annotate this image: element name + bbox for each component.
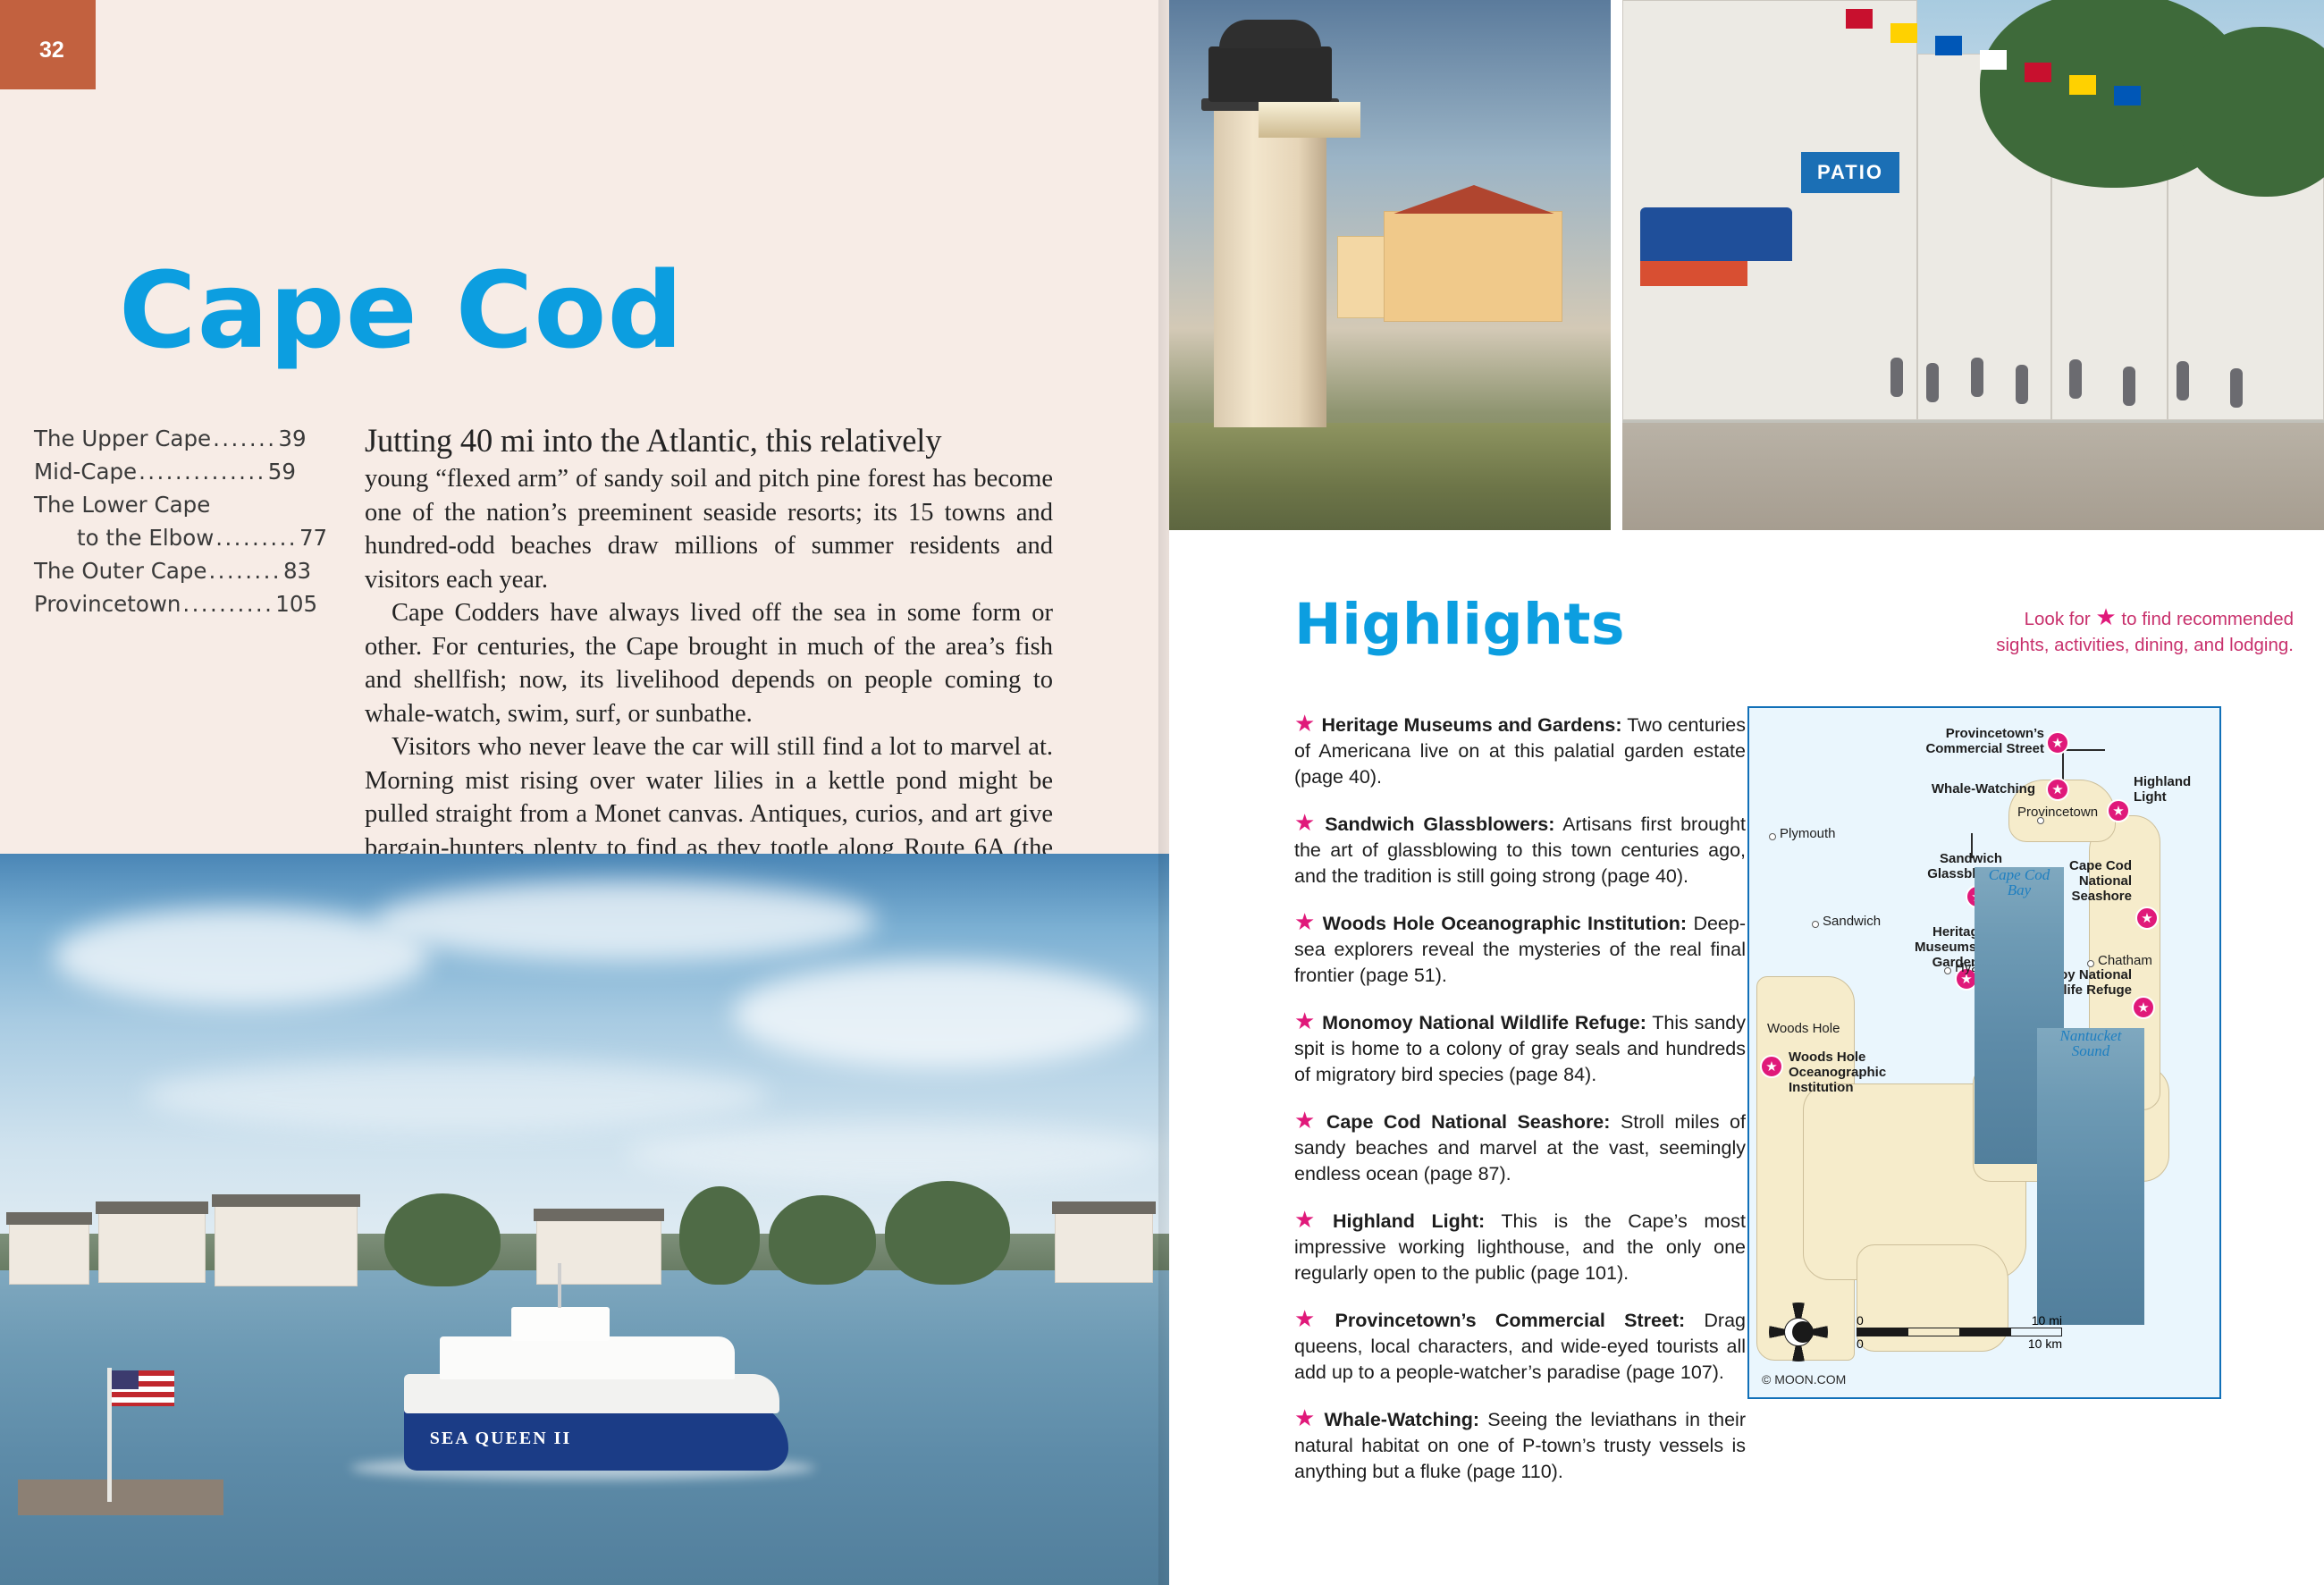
waterfront-building <box>9 1222 89 1285</box>
cloud <box>54 907 429 1006</box>
boat-mast <box>558 1263 561 1308</box>
label-line-2: Bay <box>2008 881 2031 898</box>
tree <box>384 1193 501 1286</box>
highlight-item: ★Sandwich Glassblowers: Artisans first b… <box>1294 810 1746 889</box>
boat-name-text: SEA QUEEN II <box>411 1429 590 1449</box>
label-line-1: Cape Cod <box>2069 858 2132 873</box>
town-dot <box>2087 960 2094 967</box>
highlight-title: Sandwich Glassblowers: <box>1325 814 1554 835</box>
toc-label: The Upper Cape <box>34 422 211 455</box>
town-dot <box>1812 921 1819 928</box>
intro-lead-line: Jutting 40 mi into the Atlantic, this re… <box>365 420 1053 460</box>
page-title: Cape Cod <box>119 249 684 372</box>
highlight-title: Provincetown’s Commercial Street: <box>1335 1310 1686 1331</box>
toc-label: The Outer Cape <box>34 554 206 587</box>
pedestrian <box>2230 368 2243 408</box>
scale-ticks-bottom: 0 10 km <box>1857 1336 2062 1351</box>
star-icon: ★ <box>1294 1007 1316 1034</box>
star-icon: ★ <box>1294 908 1317 935</box>
toc-dots: ......... <box>214 521 299 554</box>
keepers-house <box>1384 211 1562 322</box>
toc-label: The Lower Cape <box>34 488 210 521</box>
highlight-item: ★Highland Light: This is the Cape’s most… <box>1294 1207 1746 1286</box>
scale-zero-bottom: 0 <box>1857 1336 1864 1351</box>
toc-page: 39 <box>278 422 306 455</box>
waterfront-building <box>98 1211 206 1283</box>
map-credit: © MOON.COM <box>1762 1372 1846 1387</box>
map-label-highland-light: Highland Light <box>2134 774 2214 805</box>
pennant-flag <box>2069 75 2096 95</box>
label-line-2: Light <box>2134 789 2167 805</box>
page-number: 32 <box>39 38 64 63</box>
tree <box>769 1195 876 1285</box>
toc-label: Mid-Cape <box>34 455 137 488</box>
grass-field <box>1169 423 1611 530</box>
highlight-item: ★Monomoy National Wildlife Refuge: This … <box>1294 1008 1746 1088</box>
map-pin-highland-light[interactable]: ★ <box>2107 799 2130 822</box>
map-town-sandwich: Sandwich <box>1823 914 1881 929</box>
pennant-flag <box>1935 36 1962 55</box>
patio-sign: PATIO <box>1801 152 1899 193</box>
label-line-1: Highland <box>2134 774 2191 789</box>
list-item[interactable]: Provincetown .......... 105 <box>34 587 329 620</box>
toc-page: 59 <box>268 455 296 488</box>
star-icon: ★ <box>1294 1305 1329 1332</box>
star-icon: ★ <box>2095 603 2116 630</box>
map-town-provincetown: Provincetown <box>2017 805 2098 820</box>
look-for-suffix: to find recommended <box>2121 609 2294 629</box>
label-line-3: Seashore <box>2071 889 2132 904</box>
market-tent <box>1640 207 1792 261</box>
toc-page: 77 <box>299 521 327 554</box>
label-line-1: Whale-Watching <box>1932 781 2035 797</box>
map-town-chatham: Chatham <box>2098 953 2152 968</box>
map-pin-monomoy-national-wildlife-refuge[interactable]: ★ <box>2132 996 2155 1019</box>
label-line-2: National <box>2079 873 2132 889</box>
patio-sign-text: PATIO <box>1817 161 1883 184</box>
highlight-title: Highland Light: <box>1333 1210 1485 1232</box>
pedestrian <box>1971 358 1983 397</box>
highlight-item: ★Whale-Watching: Seeing the leviathans i… <box>1294 1405 1746 1485</box>
toc-page: 105 <box>275 587 317 620</box>
toc-dots: .............. <box>137 455 268 488</box>
boat-superstructure <box>404 1374 779 1413</box>
intro-text-block: Jutting 40 mi into the Atlantic, this re… <box>365 420 1053 898</box>
star-icon: ★ <box>1294 1107 1320 1134</box>
street-pavement <box>1622 423 2324 530</box>
map-pin-woods-hole-oceanographic-institution[interactable]: ★ <box>1760 1055 1783 1078</box>
highlight-title: Whale-Watching: <box>1324 1409 1479 1430</box>
waterfront-building <box>1055 1211 1153 1283</box>
page-number-badge: 32 <box>0 0 96 89</box>
waterfront-building <box>536 1218 661 1285</box>
label-line-2: Sound <box>2072 1042 2110 1059</box>
star-icon: ★ <box>1294 1206 1326 1233</box>
scale-km-label: 10 km <box>2028 1336 2062 1351</box>
highlights-list: ★Heritage Museums and Gardens: Two centu… <box>1294 711 1746 1505</box>
map-label-whale-watching: Whale-Watching <box>1857 781 2035 797</box>
highlight-title: Cape Cod National Seashore: <box>1326 1111 1611 1133</box>
scale-bar-graphic <box>1857 1328 2062 1336</box>
star-icon: ★ <box>1294 710 1315 737</box>
list-item[interactable]: to the Elbow ......... 77 <box>34 521 329 554</box>
pennant-flag <box>1980 50 2007 70</box>
lantern-glass <box>1259 102 1360 138</box>
cloud <box>733 961 1144 1068</box>
list-item[interactable]: Mid-Cape .............. 59 <box>34 455 329 488</box>
toc-label: to the Elbow <box>77 521 214 554</box>
cloud <box>143 1059 769 1131</box>
boat-upper-deck <box>440 1336 735 1379</box>
highlight-item: ★Provincetown’s Commercial Street: Drag … <box>1294 1306 1746 1386</box>
star-icon: ★ <box>1294 1404 1318 1431</box>
us-flag <box>112 1370 174 1406</box>
label-line-1: Provincetown’s <box>1946 726 2044 741</box>
tree <box>885 1181 1010 1285</box>
cloud <box>626 1122 1162 1185</box>
left-page: 32 Cape Cod The Upper Cape ....... 39 Mi… <box>0 0 1169 1585</box>
pedestrian <box>1890 358 1903 397</box>
scale-miles-label: 10 mi <box>2032 1313 2062 1328</box>
pennant-flag <box>2025 63 2051 82</box>
compass-rose <box>1769 1303 1828 1362</box>
scale-ticks-top: 0 10 mi <box>1857 1313 2062 1328</box>
waterfront-building <box>215 1204 358 1286</box>
look-for-prefix: Look for <box>2025 609 2091 629</box>
town-dot <box>1769 833 1776 840</box>
toc-page: 83 <box>283 554 311 587</box>
highlights-heading: Highlights <box>1294 592 1625 657</box>
lighthouse-lantern-room <box>1208 46 1332 102</box>
boat-bridge <box>511 1307 610 1341</box>
lighthouse-photo <box>1169 0 1611 530</box>
harbor-boat-photo: SEA QUEEN II <box>0 854 1169 1585</box>
intro-paragraph-1: young “flexed arm” of sandy soil and pit… <box>365 462 1053 596</box>
list-item[interactable]: The Lower Cape <box>34 488 329 521</box>
star-icon: ★ <box>1294 809 1318 836</box>
label-line-2: Commercial Street <box>1925 741 2044 756</box>
toc-dots: .......... <box>181 587 275 620</box>
tree <box>679 1186 760 1285</box>
label-line-3: Institution <box>1789 1080 1853 1095</box>
label-line-1: Sandwich <box>1940 851 2002 866</box>
dock <box>18 1480 223 1515</box>
pennant-flag <box>2114 86 2141 105</box>
pedestrian <box>1926 363 1939 402</box>
look-for-note: Look for ★ to find recommended sights, a… <box>1865 604 2294 658</box>
highlight-title: Heritage Museums and Gardens: <box>1321 714 1621 736</box>
map-water-nantucket-sound: Nantucket Sound <box>2037 1028 2144 1325</box>
highlight-item: ★Woods Hole Oceanographic Institution: D… <box>1294 909 1746 989</box>
map-pin-whale-watching[interactable]: ★ <box>2046 778 2069 801</box>
highlight-title: Monomoy National Wildlife Refuge: <box>1322 1012 1646 1033</box>
pedestrian <box>2123 367 2135 406</box>
pedestrian <box>2069 359 2082 399</box>
scale-zero-top: 0 <box>1857 1313 1864 1328</box>
toc-dots: ........ <box>206 554 283 587</box>
toc-label: Provincetown <box>34 587 181 620</box>
toc-dots: ....... <box>211 422 278 455</box>
look-for-line2: sights, activities, dining, and lodging. <box>1996 635 2294 655</box>
highlight-item: ★Cape Cod National Seashore: Stroll mile… <box>1294 1108 1746 1187</box>
map-pin-cape-cod-national-seashore[interactable]: ★ <box>2135 906 2159 930</box>
town-dot <box>1944 967 1951 974</box>
table-of-contents: The Upper Cape ....... 39 Mid-Cape .....… <box>34 422 329 620</box>
map-scale-bar: 0 10 mi 0 10 km <box>1857 1313 2062 1351</box>
map-pin-provincetown-commercial-street[interactable]: ★ <box>2046 731 2069 755</box>
cloud <box>375 881 876 961</box>
pedestrian <box>2016 365 2028 404</box>
pedestrian <box>2177 361 2189 400</box>
pennant-flag <box>1846 9 1873 29</box>
map-town-plymouth: Plymouth <box>1780 826 1836 841</box>
list-item[interactable]: The Upper Cape ....... 39 <box>34 422 329 455</box>
highlight-item: ★Heritage Museums and Gardens: Two centu… <box>1294 711 1746 790</box>
leader-line <box>2062 749 2105 751</box>
moon-logo-icon <box>1784 1318 1813 1346</box>
map-label-provincetown-commercial-street: Provincetown’s Commercial Street <box>1839 726 2044 756</box>
map-label-woods-hole-oceanographic-institution: Woods Hole Oceanographic Institution <box>1789 1050 1923 1095</box>
intro-paragraph-2: Cape Codders have always lived off the s… <box>365 596 1053 730</box>
highlight-title: Woods Hole Oceanographic Institution: <box>1323 913 1687 934</box>
map-town-woods-hole: Woods Hole <box>1767 1021 1840 1036</box>
tour-boat: SEA QUEEN II <box>404 1319 788 1480</box>
list-item[interactable]: The Outer Cape ........ 83 <box>34 554 329 587</box>
awning <box>1640 261 1747 286</box>
lighthouse-cap <box>1219 20 1321 48</box>
street-scene-photo: PATIO <box>1622 0 2324 530</box>
lighthouse-tower <box>1214 97 1326 427</box>
label-line-1: Woods Hole <box>1789 1050 1865 1065</box>
pennant-flag <box>1890 23 1917 43</box>
highlights-map[interactable]: ★ ★ ★ ★ ★ ★ ★ ★ Provincetown’s Commercia… <box>1747 706 2221 1399</box>
label-line-2: Oceanographic <box>1789 1065 1886 1080</box>
